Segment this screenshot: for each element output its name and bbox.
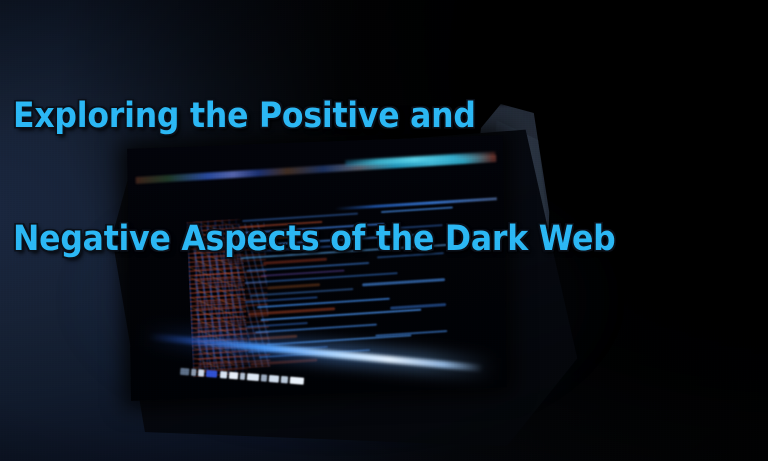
page-title: Exploring the Positive and Negative Aspe…: [13, 14, 733, 342]
page-title-line-1: Exploring the Positive and: [13, 96, 733, 137]
hero-banner: Exploring the Positive and Negative Aspe…: [0, 0, 768, 461]
page-title-line-2: Negative Aspects of the Dark Web: [13, 219, 733, 260]
